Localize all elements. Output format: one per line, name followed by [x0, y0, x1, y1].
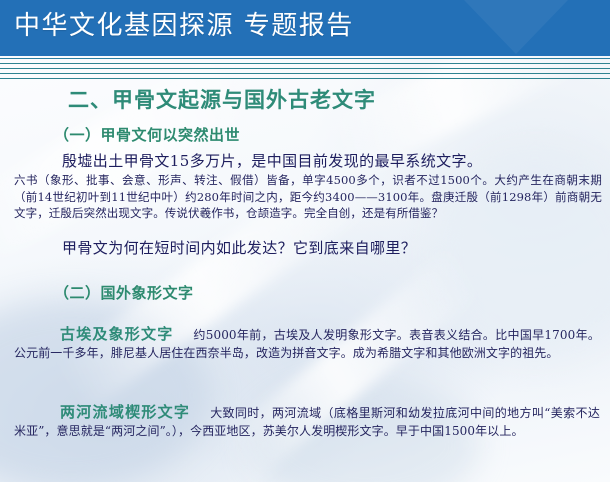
term-name: 古埃及象形文字: [14, 325, 193, 343]
header-rule-line: [0, 63, 610, 64]
term-name: 两河流域楔形文字: [14, 403, 210, 421]
question-paragraph: 甲骨文为何在短时间内如此发达？它到底来自哪里？: [62, 237, 416, 258]
detail-paragraph: 六书（象形、批事、会意、形声、转注、假借）皆备，单字4500多个，识者不过150…: [14, 172, 602, 222]
header-triangle-decoration: [464, 0, 568, 54]
term-block-egyptian-hieroglyphs: 古埃及象形文字约5000年前，古埃及人发明象形文字。表音表义结合。比中国早170…: [14, 326, 600, 362]
lead-paragraph: 殷墟出土甲骨文15多万片，是中国目前发现的最早系统文字。: [62, 150, 482, 171]
slide-content: 二、甲骨文起源与国外古老文字 （一）甲骨文何以突然出世 殷墟出土甲骨文15多万片…: [0, 82, 610, 482]
header-rule-line: [0, 78, 610, 79]
header-rule-line: [0, 58, 610, 59]
presentation-title: 中华文化基因探源 专题报告: [14, 5, 354, 42]
term-block-mesopotamian-cuneiform: 两河流域楔形文字大致同时，两河流域（底格里斯河和幼发拉底河中间的地方叫“美索不达…: [14, 404, 600, 440]
header-banner: 中华文化基因探源 专题报告: [0, 0, 610, 56]
presentation-slide: 中华文化基因探源 专题报告 二、甲骨文起源与国外古老文字 （一）甲骨文何以突然出…: [0, 0, 610, 482]
sub-heading-part-two: （二）国外象形文字: [54, 282, 194, 303]
header-rule-line: [0, 68, 610, 69]
sub-heading-part-one: （一）甲骨文何以突然出世: [54, 124, 240, 145]
header-rule-line: [0, 73, 610, 74]
header-rule-group: [0, 56, 610, 82]
main-heading: 二、甲骨文起源与国外古老文字: [68, 84, 376, 114]
